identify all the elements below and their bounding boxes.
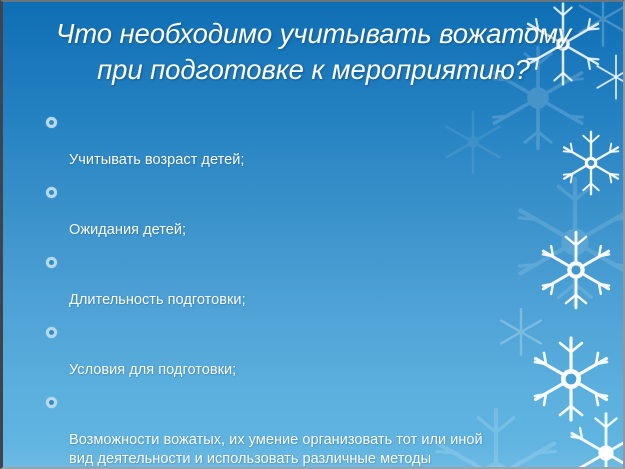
list-item-text: Ожидания детей; — [69, 222, 186, 238]
slide-title: Что необходимо учитывать вожатому при по… — [21, 16, 606, 88]
list-item: Учитывать возраст детей; — [44, 113, 564, 170]
list-item-text: Длительность подготовки; — [69, 292, 246, 308]
bullet-ring-icon — [46, 117, 57, 128]
list-item-text: Возможности вожатых, их умение организов… — [69, 432, 483, 469]
list-item-text: Учитывать возраст детей; — [69, 152, 244, 168]
bullet-ring-icon — [46, 327, 57, 338]
bullet-list: Учитывать возраст детей; Ожидания детей;… — [44, 113, 564, 469]
list-item: Условия для подготовки; — [44, 323, 564, 380]
bullet-ring-icon — [46, 187, 57, 198]
list-item-text: Условия для подготовки; — [69, 362, 236, 378]
presentation-slide: Что необходимо учитывать вожатому при по… — [0, 0, 625, 469]
list-item: Ожидания детей; — [44, 183, 564, 240]
list-item: Длительность подготовки; — [44, 253, 564, 310]
list-item: Возможности вожатых, их умение организов… — [44, 393, 564, 469]
bullet-ring-icon — [46, 397, 57, 408]
bullet-ring-icon — [46, 257, 57, 268]
snowflake-icon — [558, 405, 625, 469]
